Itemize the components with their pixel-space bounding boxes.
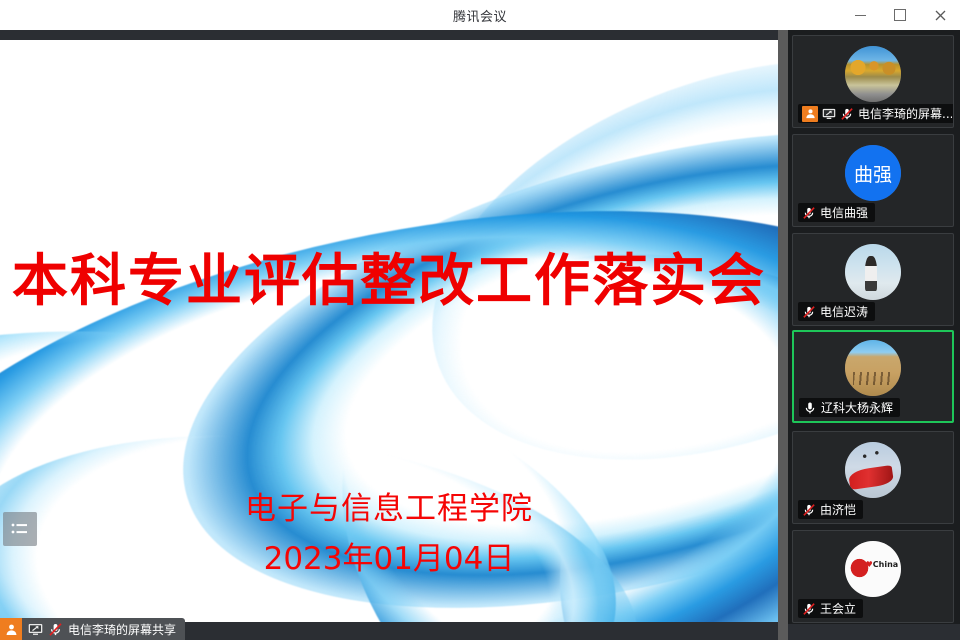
close-icon	[935, 10, 946, 21]
stage-scrollbar[interactable]	[778, 30, 788, 640]
i-love-china-photo: I♥China	[845, 541, 901, 597]
blue-initial-avatar: 曲强	[845, 145, 901, 201]
autumn-park-photo	[845, 46, 901, 102]
person-sky-photo	[845, 244, 901, 300]
host-person-icon	[802, 106, 818, 122]
title-bar: 腾讯会议	[0, 0, 960, 31]
participant-name: 电信曲强	[820, 204, 868, 221]
screen-share-banner: 电信李琦的屏幕共享	[0, 618, 185, 640]
avatar-initial: 曲强	[854, 160, 892, 187]
mic-on-icon	[803, 401, 817, 415]
avatar: I♥China	[845, 541, 901, 597]
participant-namebar: 辽科大杨永辉	[799, 398, 900, 417]
stage-scrollbar-thumb[interactable]	[778, 30, 788, 640]
avatar-caption: I♥China	[863, 560, 899, 569]
screen-share-icon	[822, 108, 836, 120]
list-icon	[11, 522, 29, 536]
close-button[interactable]	[920, 0, 960, 30]
host-person-icon	[0, 618, 22, 640]
mic-muted-icon	[802, 602, 816, 616]
participant-tile[interactable]: 曲强电信曲强	[792, 134, 954, 227]
minimize-icon	[855, 15, 866, 16]
mic-muted-icon	[802, 206, 816, 220]
mic-muted-icon	[802, 305, 816, 319]
participant-name: 王会立	[820, 600, 856, 617]
desert-sand-photo	[845, 340, 901, 396]
avatar	[845, 442, 901, 498]
participant-tile[interactable]: 辽科大杨永辉	[792, 330, 954, 423]
share-banner-label: 电信李琦的屏幕共享	[68, 621, 185, 638]
minimize-button[interactable]	[840, 0, 880, 30]
slide-title: 本科专业评估整改工作落实会	[0, 236, 778, 317]
mic-muted-icon	[840, 107, 854, 121]
participant-name: 电信李琦的屏幕...	[858, 105, 952, 122]
participant-tile[interactable]: 电信李琦的屏幕...	[792, 35, 954, 128]
participant-namebar: 王会立	[798, 599, 863, 618]
list-icon-button[interactable]	[3, 512, 37, 546]
slide-date: 2023年01月04日	[0, 533, 778, 578]
flag-doves-photo	[845, 442, 901, 498]
mic-muted-icon	[802, 503, 816, 517]
participant-tile[interactable]: 由济恺	[792, 431, 954, 524]
avatar: 曲强	[845, 145, 901, 201]
participant-tile[interactable]: 电信迟涛	[792, 233, 954, 326]
window-controls	[840, 0, 960, 30]
panel-bottom-filler	[788, 624, 960, 640]
participant-namebar: 电信迟涛	[798, 302, 875, 321]
participant-namebar: 由济恺	[798, 500, 863, 519]
slide-organization: 电子与信息工程学院	[0, 483, 778, 528]
window-title: 腾讯会议	[453, 6, 507, 25]
avatar	[845, 244, 901, 300]
participant-name: 辽科大杨永辉	[821, 399, 893, 416]
avatar	[845, 46, 901, 102]
share-banner-icons	[22, 622, 68, 637]
participant-tile[interactable]: I♥China王会立	[792, 530, 954, 623]
participant-namebar: 电信李琦的屏幕...	[798, 104, 954, 123]
presentation-slide: 本科专业评估整改工作落实会 电子与信息工程学院 2023年01月04日	[0, 40, 778, 622]
maximize-button[interactable]	[880, 0, 920, 30]
participant-namebar: 电信曲强	[798, 203, 875, 222]
mic-muted-icon	[48, 622, 63, 637]
participant-name: 电信迟涛	[820, 303, 868, 320]
shared-screen-stage[interactable]: 本科专业评估整改工作落实会 电子与信息工程学院 2023年01月04日	[0, 30, 780, 640]
maximize-icon	[894, 9, 906, 21]
tencent-meeting-window: 腾讯会议	[0, 0, 960, 640]
participant-panel[interactable]: 电信李琦的屏幕...曲强电信曲强电信迟涛辽科大杨永辉由济恺I♥China王会立	[788, 30, 960, 640]
screen-share-icon	[28, 623, 43, 636]
avatar	[845, 340, 901, 396]
participant-name: 由济恺	[820, 501, 856, 518]
